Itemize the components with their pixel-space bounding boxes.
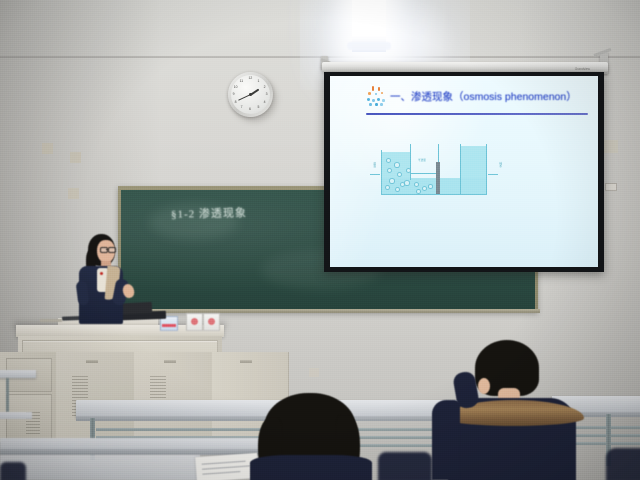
classroom-scene: 12 1 2 3 4 5 6 7 8 9 10 11 §1-2 渗透现象 — [0, 0, 640, 480]
wall-outlet[interactable] — [309, 368, 319, 377]
student-left-shoulders — [250, 455, 372, 480]
ceiling-light-diffuser — [347, 42, 391, 50]
student-partial-right — [606, 448, 640, 480]
clock-hour-10: 10 — [234, 86, 238, 89]
clock-hour-11: 11 — [240, 80, 244, 83]
slide-title: 一、渗透现象（osmosis phenomenon） — [390, 89, 577, 104]
cabinet-handle-2[interactable] — [86, 360, 98, 363]
diagram-semipermeable-membrane — [436, 162, 440, 194]
clock-hour-2: 2 — [264, 86, 266, 89]
diagram-left-label: 溶液 — [372, 162, 375, 184]
diagram-vessel-bottom — [381, 194, 487, 195]
wall-tape-square-3 — [68, 188, 79, 199]
clock-hour-5: 5 — [258, 106, 260, 109]
blackboard-chalk-text: §1-2 渗透现象 — [171, 204, 247, 222]
student-right-raised-arm — [432, 400, 460, 480]
clock-hour-3: 3 — [266, 93, 268, 96]
diagram-left-arrow — [370, 174, 380, 175]
diagram-membrane-label: 半透膜 — [418, 158, 426, 162]
clock-hour-12: 12 — [249, 77, 253, 80]
wall-clock-face: 12 1 2 3 4 5 6 7 8 9 10 11 — [231, 75, 270, 114]
screen-brand-label: Grandview — [575, 67, 590, 71]
small-carton-1[interactable] — [186, 313, 203, 331]
wall-tape-square-2 — [70, 152, 81, 163]
cabinet-handle-4[interactable] — [240, 360, 252, 363]
background-bench-top — [0, 412, 32, 419]
diagram-vessel-inner-right — [460, 144, 461, 195]
teacher-glasses-right-lens — [108, 247, 116, 253]
teacher-glasses-bridge — [106, 249, 108, 250]
wall-light-switch[interactable] — [605, 183, 617, 191]
student-bench-front-lower — [0, 455, 200, 480]
clock-center-pin — [249, 93, 252, 96]
diagram-vessel-right — [486, 144, 487, 195]
projection-screen-roller[interactable]: Grandview — [322, 62, 608, 72]
clock-hour-9: 9 — [233, 93, 235, 96]
wall-tape-square-1 — [42, 143, 53, 154]
diagram-vessel-left — [381, 150, 382, 195]
student-bag[interactable] — [378, 452, 432, 480]
cabinet-handle-3[interactable] — [164, 360, 176, 363]
slide-title-underline — [366, 113, 588, 115]
slide-decoration — [366, 86, 392, 108]
teacher-badge — [100, 272, 103, 275]
projection-screen[interactable]: 一、渗透现象（osmosis phenomenon） 半透膜 — [330, 76, 598, 267]
clock-hour-8: 8 — [235, 101, 237, 104]
wall-seam-upper — [0, 56, 640, 58]
background-desk-top — [0, 370, 36, 378]
clock-hour-6: 6 — [249, 108, 251, 111]
diagram-water-right — [460, 146, 486, 194]
podium-marker[interactable] — [40, 319, 62, 322]
wall-clock: 12 1 2 3 4 5 6 7 8 9 10 11 — [228, 72, 273, 117]
diagram-right-label: 纯水 — [498, 162, 501, 184]
teacher-glasses-left-lens — [100, 247, 108, 253]
clock-hour-4: 4 — [264, 101, 266, 104]
diagram-tube-wall-left — [410, 144, 411, 180]
clock-hour-1: 1 — [258, 80, 260, 83]
background-desk-leg — [6, 378, 9, 412]
small-carton-2[interactable] — [203, 313, 220, 331]
clock-hour-7: 7 — [241, 106, 243, 109]
blackboard-chalk-tray — [116, 309, 540, 313]
diagram-tube-bottom — [410, 173, 439, 174]
student-right-ear — [478, 378, 490, 394]
diagram-right-arrow — [488, 174, 498, 175]
osmosis-diagram: 半透膜 溶液 纯水 — [376, 138, 516, 204]
wall-plate — [604, 140, 618, 153]
object-bottom-left — [0, 462, 26, 480]
